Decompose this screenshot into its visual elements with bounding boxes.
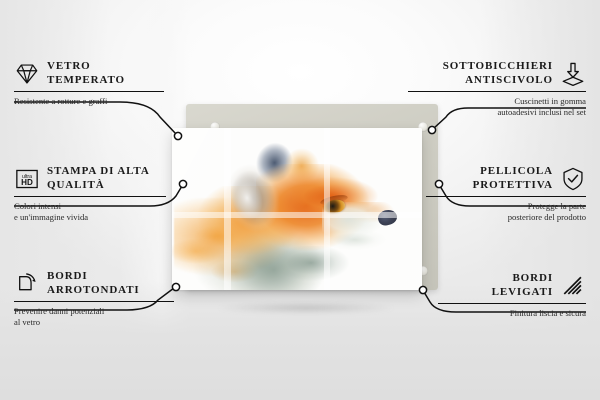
feature-subtitle: Resistente a rotture e graffi xyxy=(14,96,164,107)
feature-rule xyxy=(14,301,174,302)
feature-rule xyxy=(14,91,164,92)
feature-subtitle-line: e un'immagine vivida xyxy=(14,212,166,223)
feature-rule xyxy=(14,196,166,197)
feature-stampa-di-alta-qualita: ultra HD STAMPA DI ALTA QUALITÀ Colori i… xyxy=(14,165,166,223)
feature-subtitle: Cuscinetti in gomma autoadesivi inclusi … xyxy=(408,96,586,118)
ultra-hd-icon: ultra HD xyxy=(14,166,40,192)
feature-rule xyxy=(426,196,586,197)
feature-title: VETRO TEMPERATO xyxy=(47,60,125,87)
feature-pellicola-protettiva: PELLICOLA PROTETTIVA Protegge la parte p… xyxy=(426,165,586,223)
product-image xyxy=(168,104,438,308)
feature-subtitle-line: Protegge la parte xyxy=(426,201,586,212)
feature-header: BORDI ARROTONDATI xyxy=(14,270,174,297)
feature-subtitle: Finitura liscia e sicura xyxy=(438,308,586,319)
tempered-glass-panel xyxy=(172,128,422,290)
infographic-canvas: VETRO TEMPERATO Resistente a rotture e g… xyxy=(0,0,600,400)
feature-title: BORDI ARROTONDATI xyxy=(47,270,140,297)
feature-subtitle: Colori intensi e un'immagine vivida xyxy=(14,201,166,223)
feature-header: BORDI LEVIGATI xyxy=(438,272,586,299)
diagonal-lines-icon xyxy=(560,273,586,299)
fox-artwork xyxy=(172,128,422,290)
shield-check-icon xyxy=(560,166,586,192)
feature-subtitle-line: Cuscinetti in gomma xyxy=(408,96,586,107)
feature-subtitle-line: Colori intensi xyxy=(14,201,166,212)
rounded-corner-icon xyxy=(14,271,40,297)
feature-sottobicchieri-antiscivolo: SOTTOBICCHIERI ANTISCIVOLO Cuscinetti in… xyxy=(408,60,586,118)
feature-rule xyxy=(408,91,586,92)
feature-subtitle-line: posteriore del prodotto xyxy=(426,212,586,223)
feature-subtitle-line: al vetro xyxy=(14,317,174,328)
feature-subtitle-line: autoadesivi inclusi nel set xyxy=(408,107,586,118)
feature-bordi-levigati: BORDI LEVIGATI Finitura liscia e sicura xyxy=(438,272,586,319)
feature-header: VETRO TEMPERATO xyxy=(14,60,164,87)
feature-subtitle: Prevenire danni potenziali al vetro xyxy=(14,306,174,328)
diamond-icon xyxy=(14,61,40,87)
feature-header: SOTTOBICCHIERI ANTISCIVOLO xyxy=(408,60,586,87)
feature-header: PELLICOLA PROTETTIVA xyxy=(426,165,586,192)
feature-title: BORDI LEVIGATI xyxy=(492,272,553,299)
feature-vetro-temperato: VETRO TEMPERATO Resistente a rotture e g… xyxy=(14,60,164,107)
feature-header: ultra HD STAMPA DI ALTA QUALITÀ xyxy=(14,165,166,192)
feature-rule xyxy=(438,303,586,304)
stamp-pad-icon xyxy=(560,61,586,87)
feature-title: SOTTOBICCHIERI ANTISCIVOLO xyxy=(443,60,553,87)
fox-chin xyxy=(322,228,394,254)
feature-title: PELLICOLA PROTETTIVA xyxy=(473,165,553,192)
feature-subtitle: Protegge la parte posteriore del prodott… xyxy=(426,201,586,223)
feature-subtitle-line: Prevenire danni potenziali xyxy=(14,306,174,317)
svg-text:HD: HD xyxy=(21,178,33,187)
feature-title: STAMPA DI ALTA QUALITÀ xyxy=(47,165,150,192)
feature-bordi-arrotondati: BORDI ARROTONDATI Prevenire danni potenz… xyxy=(14,270,174,328)
